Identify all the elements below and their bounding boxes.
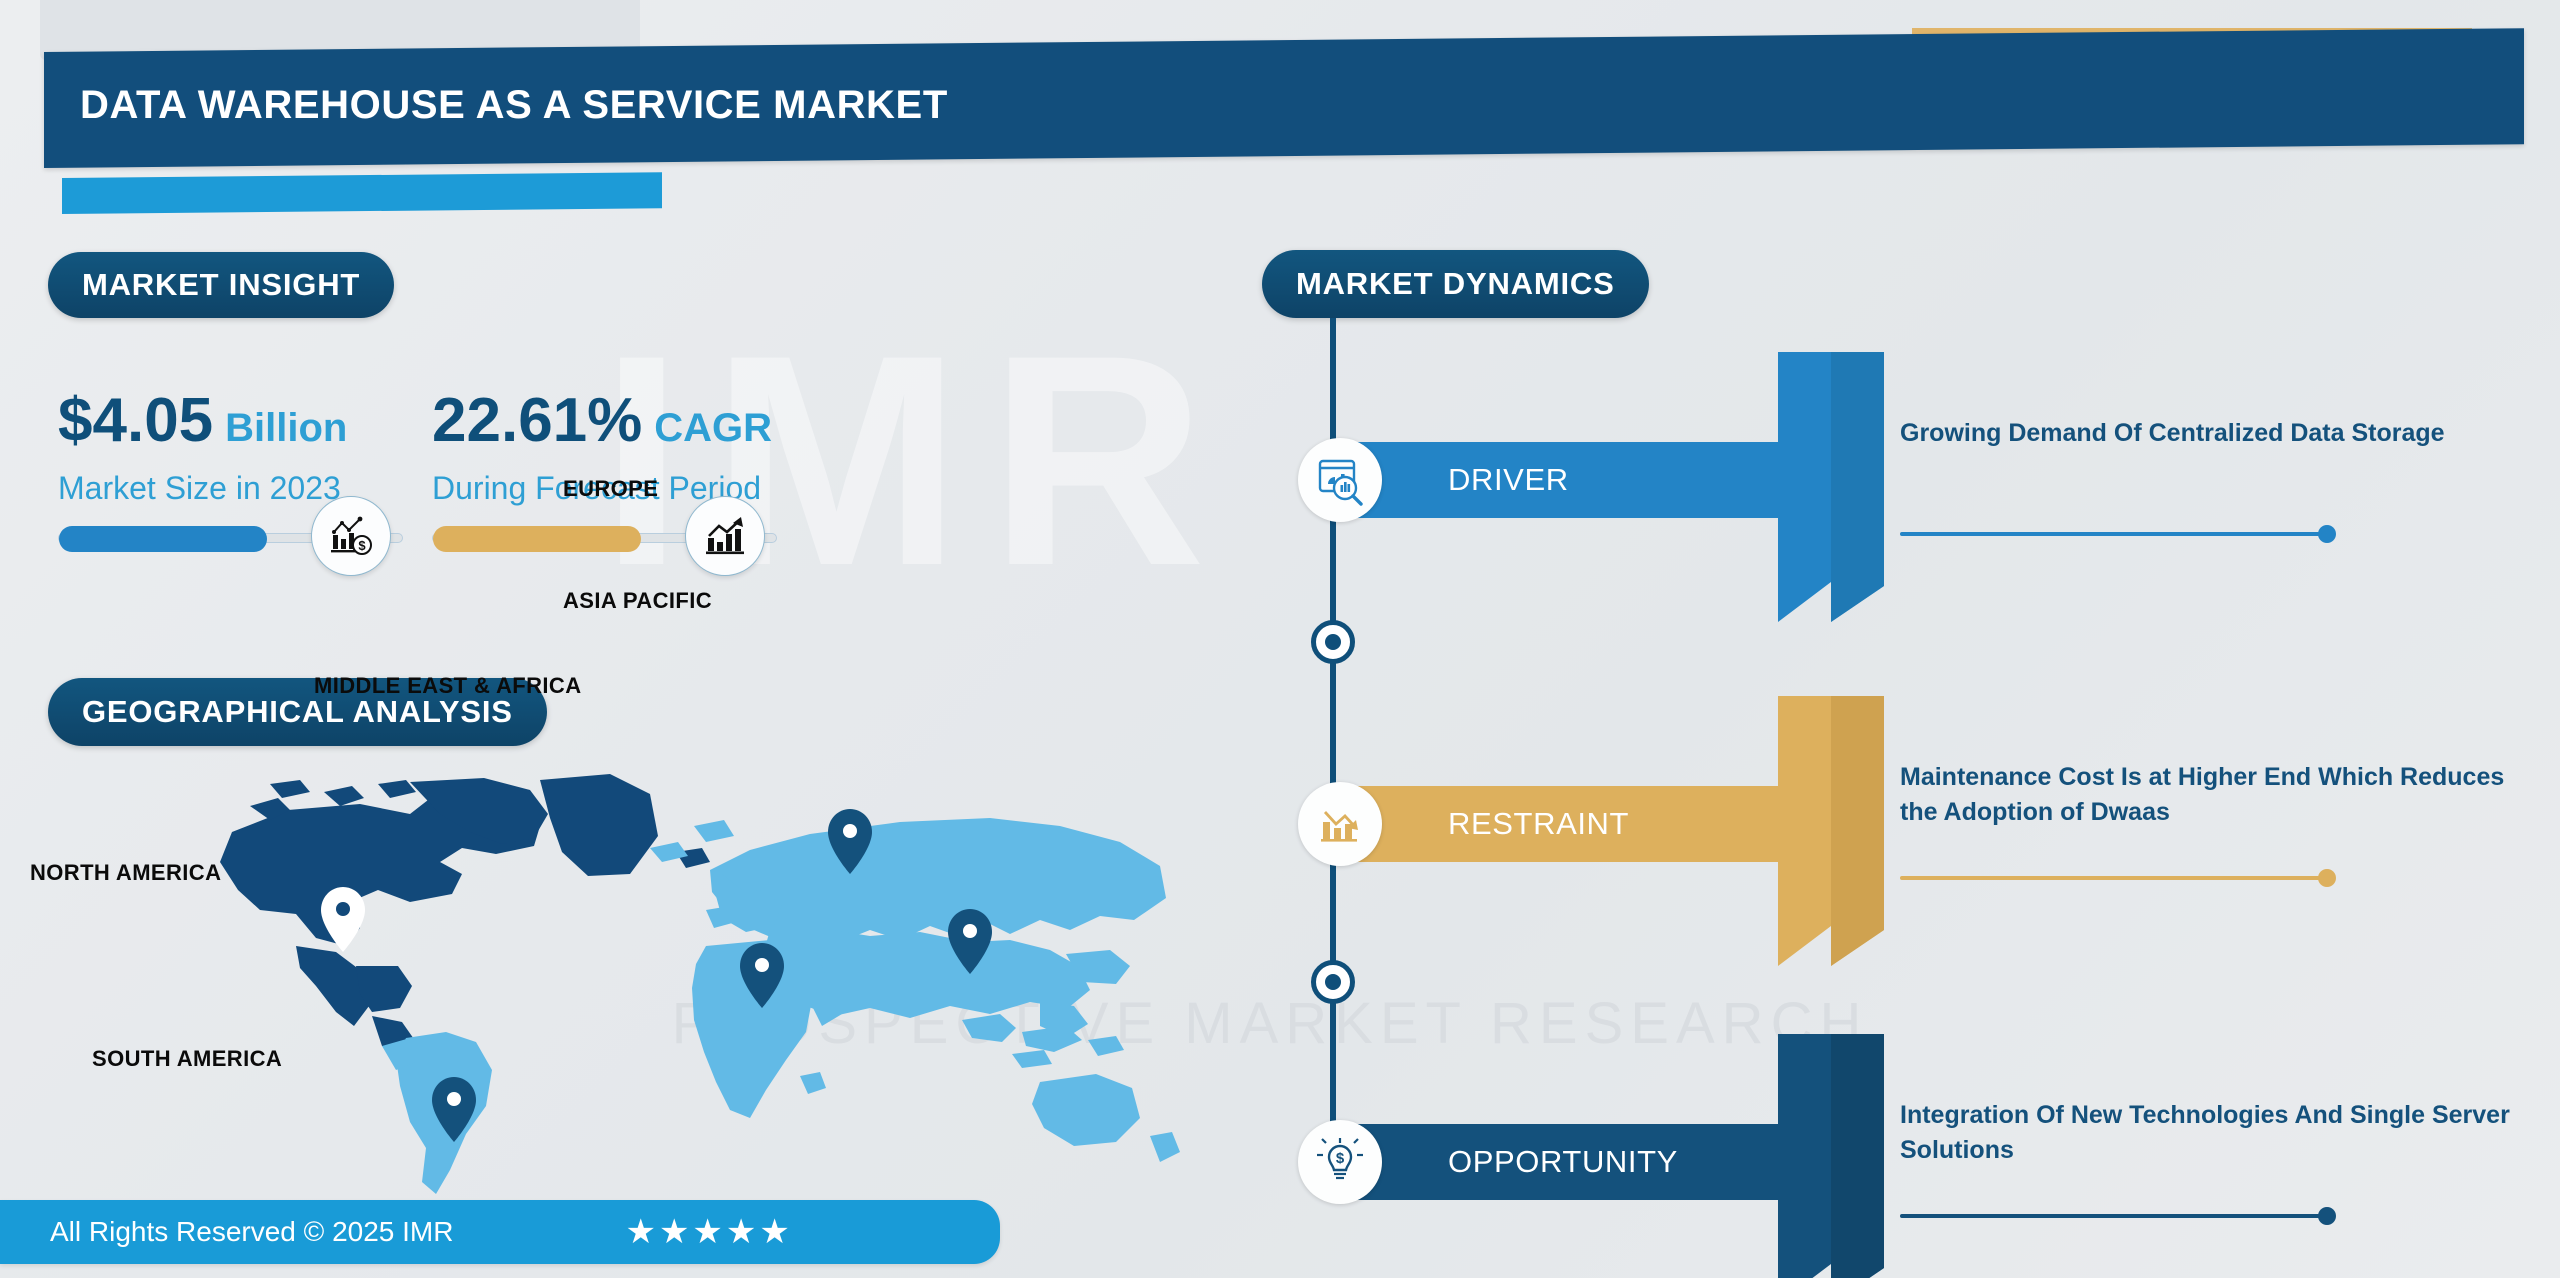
restraint-text: Maintenance Cost Is at Higher End Which … <box>1900 760 2540 829</box>
stat-value-row: $4.05Billion <box>58 390 403 452</box>
restraint-label: RESTRAINT <box>1448 806 1629 842</box>
opportunity-text: Integration Of New Technologies And Sing… <box>1900 1098 2540 1167</box>
map-label-south-america: SOUTH AMERICA <box>92 1046 282 1072</box>
driver-bar[interactable]: DRIVER <box>1330 442 1782 518</box>
restraint-underline <box>1900 876 2320 880</box>
map-label-asia-pacific: ASIA PACIFIC <box>563 588 712 614</box>
restraint-ribbon <box>1778 696 1884 966</box>
map-pin-north-america <box>321 887 365 952</box>
cagr-progress-fill <box>433 526 641 552</box>
copyright-text: All Rights Reserved © 2025 IMR <box>50 1216 453 1248</box>
driver-underline <box>1900 532 2320 536</box>
rating-stars: ★★★★★ <box>625 1212 792 1252</box>
driver-text: Growing Demand Of Centralized Data Stora… <box>1900 416 2540 451</box>
map-label-middle-east-africa: MIDDLE EAST & AFRICA <box>314 673 582 699</box>
bar-chart-dollar-icon: $ <box>311 496 391 576</box>
lightbulb-dollar-icon: $ <box>1298 1120 1382 1204</box>
market-size-progress-track: $ <box>58 533 403 543</box>
market-size-unit: Billion <box>225 406 347 450</box>
driver-ribbon <box>1778 352 1884 622</box>
market-dynamics-heading: MARKET DYNAMICS <box>1262 250 1649 318</box>
cagr-value: 22.61% <box>432 386 642 455</box>
map-region-north-america <box>220 778 548 1056</box>
opportunity-ribbon <box>1778 1034 1884 1278</box>
map-region-greenland <box>540 774 658 876</box>
dynamics-row-restraint: RESTRAINT Maintenance Cost Is at Higher … <box>1290 742 2550 922</box>
spine-node-2 <box>1311 960 1355 1004</box>
cagr-unit: CAGR <box>654 406 772 450</box>
opportunity-bar[interactable]: $ OPPORTUNITY <box>1330 1124 1782 1200</box>
stat-market-size: $4.05Billion Market Size in 2023 $ <box>58 390 403 543</box>
dynamics-row-opportunity: $ OPPORTUNITY Integration Of New Technol… <box>1290 1080 2550 1260</box>
cagr-value-row: 22.61%CAGR <box>432 390 777 452</box>
map-region-oceania <box>1032 1074 1180 1162</box>
cagr-progress-track <box>432 533 777 543</box>
market-size-progress-fill <box>59 526 267 552</box>
title-accent-bar <box>62 172 662 214</box>
spine-node-1 <box>1311 620 1355 664</box>
market-insight-heading: MARKET INSIGHT <box>48 252 394 318</box>
svg-text:$: $ <box>1336 1150 1345 1167</box>
driver-label: DRIVER <box>1448 462 1569 498</box>
restraint-bar[interactable]: RESTRAINT <box>1330 786 1782 862</box>
opportunity-underline <box>1900 1214 2320 1218</box>
page-title: DATA WAREHOUSE AS A SERVICE MARKET <box>80 83 948 128</box>
dynamics-row-driver: DRIVER Growing Demand Of Centralized Dat… <box>1290 398 2550 578</box>
declining-chart-icon <box>1298 782 1382 866</box>
opportunity-label: OPPORTUNITY <box>1448 1144 1678 1180</box>
map-label-north-america: NORTH AMERICA <box>30 860 221 886</box>
stat-cagr: 22.61%CAGR During Forecast Period <box>432 390 777 543</box>
growth-chart-arrow-icon <box>685 496 765 576</box>
footer-bar: All Rights Reserved © 2025 IMR ★★★★★ <box>0 1200 1000 1264</box>
infographic-canvas: IMR PROSPECTIVE MARKET RESEARCH DATA WAR… <box>0 0 2560 1278</box>
title-banner: DATA WAREHOUSE AS A SERVICE MARKET <box>44 28 2524 168</box>
map-label-europe: EUROPE <box>563 476 658 502</box>
report-search-icon <box>1298 438 1382 522</box>
market-size-value: $4.05 <box>58 386 213 455</box>
world-map <box>110 770 1185 1200</box>
svg-text:$: $ <box>358 538 366 553</box>
